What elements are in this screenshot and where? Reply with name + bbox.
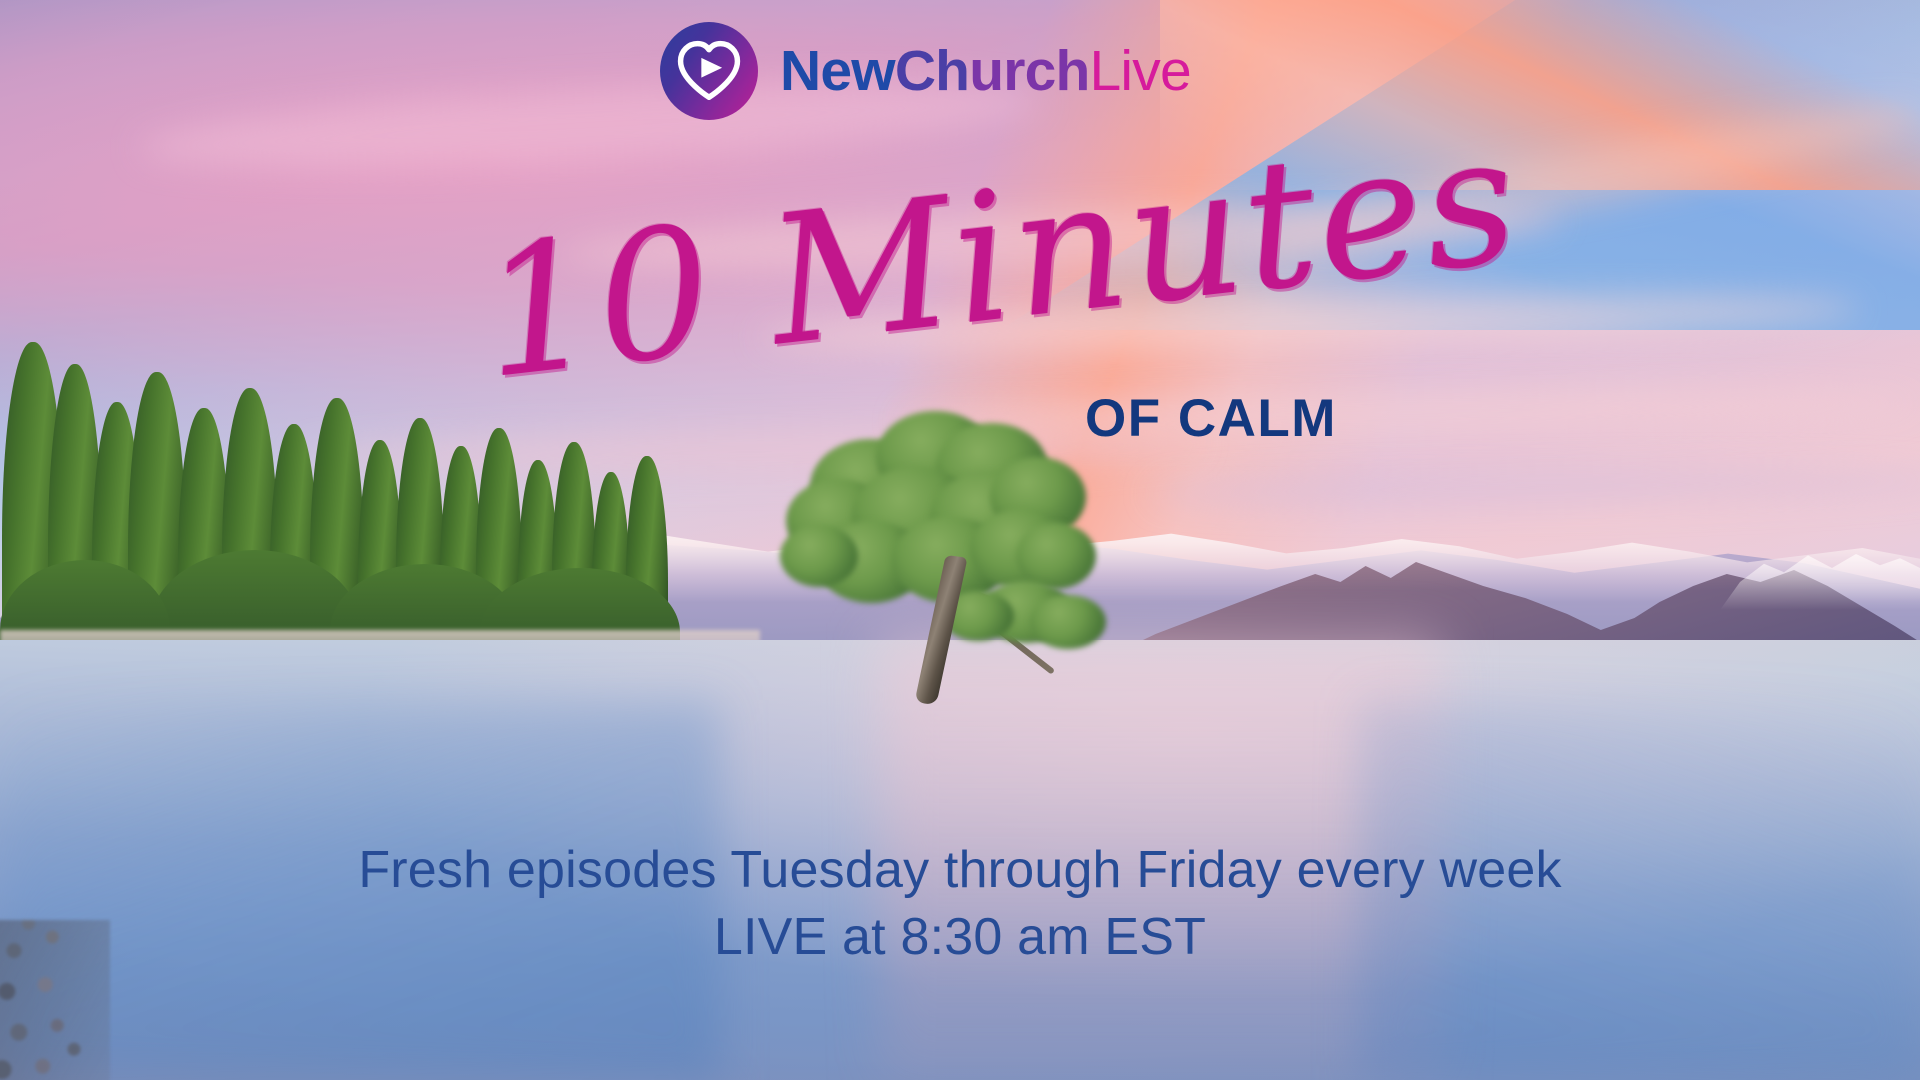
- brand-logo[interactable]: NewChurchLive: [660, 22, 1191, 120]
- promo-graphic: NewChurchLive 10 Minutes OF CALM Fresh e…: [0, 0, 1920, 1080]
- schedule-line-1: Fresh episodes Tuesday through Friday ev…: [0, 840, 1920, 901]
- wordmark-part-live: Live: [1090, 39, 1191, 103]
- wordmark-part-urch: urch: [969, 39, 1089, 103]
- schedule-text: Fresh episodes Tuesday through Friday ev…: [0, 840, 1920, 969]
- schedule-line-2: LIVE at 8:30 am EST: [0, 907, 1920, 968]
- heart-play-icon: [660, 22, 758, 120]
- subheadline: OF CALM: [1085, 388, 1337, 449]
- lone-tree: [780, 405, 1120, 705]
- wordmark-part-new: New: [780, 39, 895, 103]
- wordmark-part-ch: Ch: [895, 39, 969, 103]
- brand-wordmark: NewChurchLive: [780, 43, 1191, 100]
